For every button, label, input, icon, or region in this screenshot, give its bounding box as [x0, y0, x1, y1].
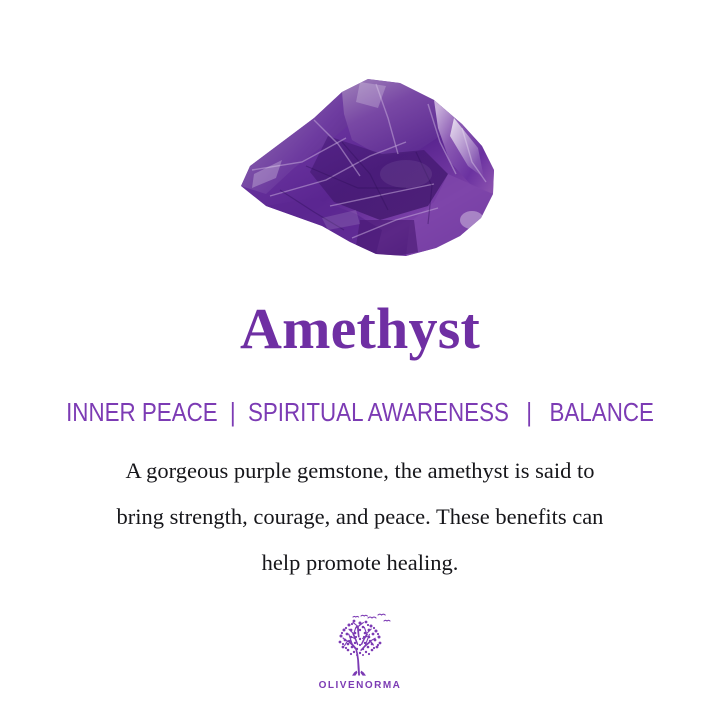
brand-logo: OLIVENORMA [0, 612, 720, 691]
keyword-separator-1: | [224, 396, 242, 428]
keyword-separator-2: | [515, 396, 543, 428]
page-title: Amethyst [0, 296, 720, 362]
description-text: A gorgeous purple gemstone, the amethyst… [50, 448, 670, 586]
gemstone-image [0, 70, 720, 265]
description-line-3: help promote healing. [50, 540, 670, 586]
raw-amethyst-crystal-illustration [210, 70, 510, 265]
tree-of-life-icon [321, 612, 399, 678]
brand-name: OLIVENORMA [0, 680, 720, 691]
keyword-balance: BALANCE [550, 397, 654, 427]
keyword-inner-peace: INNER PEACE [66, 397, 218, 427]
description-line-1: A gorgeous purple gemstone, the amethyst… [50, 448, 670, 494]
description-line-2: bring strength, courage, and peace. Thes… [50, 494, 670, 540]
keyword-spiritual-awareness: SPIRITUAL AWARENESS [248, 397, 509, 427]
keyword-line: INNER PEACE | SPIRITUAL AWARENESS | BALA… [50, 396, 669, 428]
amethyst-info-card: Amethyst INNER PEACE | SPIRITUAL AWARENE… [0, 0, 720, 720]
